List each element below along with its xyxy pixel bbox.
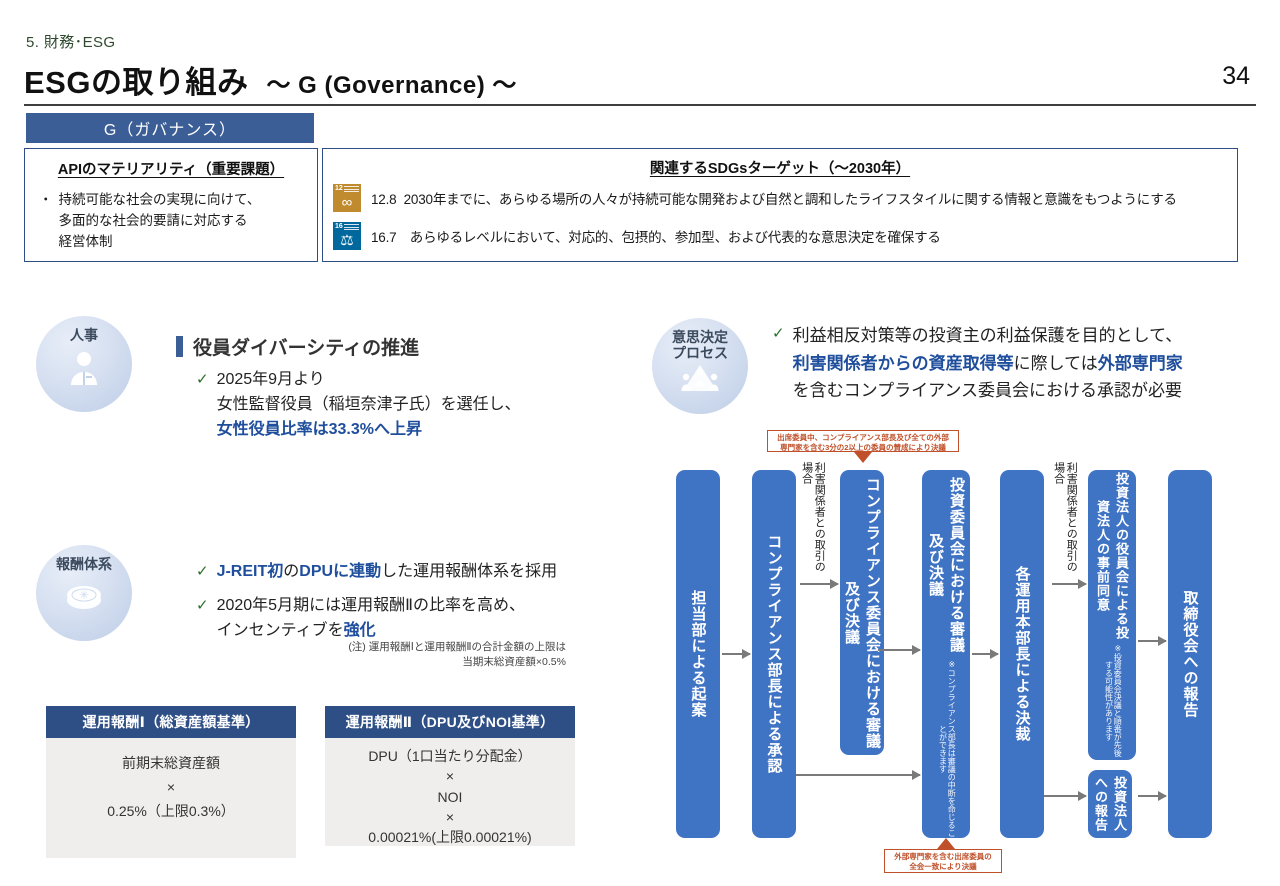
flow-box-reit-board-consent-note: ※投資委員会決議と順番が先後する可能性があります: [1104, 642, 1122, 760]
comp-b1-c: DPUに連動: [299, 563, 381, 580]
fee-table-1-line-1: 前期末総資産額: [46, 752, 296, 776]
flow-box-reit-board-consent[interactable]: 投資法人の役員会による投資法人の事前同意 ※投資委員会決議と順番が先後する可能性…: [1088, 470, 1136, 760]
flow-box-investment-committee[interactable]: 投資委員会における審議及び決議 ※コンプライアンス部長は審議の中断を命じることが…: [922, 470, 970, 838]
page-number: 34: [1222, 62, 1250, 91]
materiality-bullet: ・ 持続可能な社会の実現に向けて、 多面的な社会的要請に対応する 経営体制: [39, 190, 317, 253]
flow-vlabel-related-party-1: 利害関係者との取引の場合: [800, 462, 825, 582]
compensation-note-line-1: (注) 運用報酬Ⅰと運用報酬Ⅱの合計金額の上限は: [348, 641, 566, 653]
materiality-line-2: 多面的な社会的要請に対応する: [59, 213, 248, 228]
flow-box-investment-committee-label: 投資委員会における審議及び決議: [925, 470, 967, 660]
comp-b1-b: の: [283, 563, 299, 580]
materiality-line-3: 経営体制: [59, 234, 113, 249]
flow-arrow-7: [1138, 795, 1166, 797]
flow-arrow-bypass-2: [1050, 795, 1086, 797]
fee-table-2-line-5: 0.00021%(上限0.00021%): [325, 827, 575, 847]
sdg-row: 12 ∞ 12.8 2030年までに、あらゆる場所の人々が持続可能な開発および自…: [333, 184, 1237, 212]
sdg-targets-box: 関連するSDGsターゲット（～2030年） 12 ∞ 12.8 2030年までに…: [322, 148, 1238, 262]
svg-text:✳: ✳: [79, 588, 89, 602]
flow-callout-bottom-pointer: [937, 838, 955, 849]
flow-callout-top-line-1: 出席委員中、コンプライアンス部長及び全ての外部: [777, 433, 949, 442]
coin-icon: ✳: [62, 576, 106, 619]
fee-table-1: 運用報酬Ⅰ（総資産額基準） 前期末総資産額 × 0.25%（上限0.3%）: [46, 706, 296, 858]
page-title-sub: ～ G (Governance) ～: [266, 72, 516, 99]
decision-bullet: ✓ 利益相反対策等の投資主の利益保護を目的として、 利害関係者からの資産取得等に…: [772, 322, 1183, 405]
bullet-dot: ・: [39, 190, 53, 253]
page-title-main: ESGの取り組み: [24, 65, 248, 100]
section-kicker: 5. 財務･ESG: [26, 31, 115, 52]
sdg-row: 16 ⚖ 16.7 あらゆるレベルにおいて、対応的、包摂的、参加型、および代表的…: [333, 222, 1237, 250]
decision-line-3: を含むコンプライアンス委員会における承認が必要: [793, 381, 1182, 400]
fee-table-1-line-2: ×: [46, 776, 296, 800]
flow-arrow-6: [1138, 640, 1166, 642]
flow-arrow-4: [972, 653, 998, 655]
hr-badge-label: 人事: [70, 327, 98, 343]
sdg-heading: 関連するSDGsターゲット（～2030年）: [323, 149, 1237, 178]
fee-table-2-line-4: ×: [325, 807, 575, 827]
compensation-note: (注) 運用報酬Ⅰと運用報酬Ⅱの合計金額の上限は 当期末総資産額×0.5%: [300, 640, 566, 670]
flow-box-division-head-decision-label: 各運用本部長による決裁: [1012, 566, 1033, 742]
decision-line-2-b: に際しては: [1014, 354, 1098, 373]
section-banner: G（ガバナンス）: [26, 113, 314, 143]
materiality-text: 持続可能な社会の実現に向けて、 多面的な社会的要請に対応する 経営体制: [59, 190, 261, 253]
fee-table-2: 運用報酬Ⅱ（DPU及びNOI基準） DPU（1口当たり分配金） × NOI × …: [325, 706, 575, 846]
comp-b2-a: 2020年5月期には運用報酬Ⅱの比率を高め、: [217, 597, 525, 614]
compensation-note-line-2: 当期末総資産額×0.5%: [462, 656, 566, 668]
decision-badge-label: 意思決定 プロセス: [672, 329, 728, 361]
fee-table-2-header: 運用報酬Ⅱ（DPU及びNOI基準）: [325, 706, 575, 738]
flow-box-report-to-board[interactable]: 取締役会への報告: [1168, 470, 1212, 838]
sdg-goal-12-icon: 12 ∞: [333, 184, 361, 212]
flow-box-report-to-reit[interactable]: 投資法人への報告: [1088, 770, 1132, 838]
fee-table-1-body: 前期末総資産額 × 0.25%（上限0.3%）: [46, 738, 296, 858]
flow-box-compliance-committee[interactable]: コンプライアンス委員会における審議及び決議: [840, 470, 884, 755]
materiality-box: APIのマテリアリティ（重要課題） ・ 持続可能な社会の実現に向けて、 多面的な…: [24, 148, 318, 262]
hr-bullet-body: 2025年9月より 女性監督役員（稲垣奈津子氏）を選任し、 女性役員比率は33.…: [217, 368, 521, 442]
flow-callout-bottom: 外部専門家を含む出席委員の 全会一致により決議: [884, 849, 1002, 873]
flow-arrow-3: [878, 649, 920, 651]
headline-accent-bar: [176, 336, 183, 357]
hr-line-2: 女性監督役員（稲垣奈津子氏）を選任し、: [217, 396, 521, 413]
sdg-target-16-text: 16.7 あらゆるレベルにおいて、対応的、包摂的、参加型、および代表的な意思決定…: [371, 226, 941, 246]
flow-box-compliance-head-approval[interactable]: コンプライアンス部長による承認: [752, 470, 796, 838]
flow-box-compliance-head-approval-label: コンプライアンス部長による承認: [764, 534, 785, 774]
compensation-badge: 報酬体系 ✳: [36, 545, 132, 641]
flow-arrow-5: [1052, 583, 1086, 585]
compensation-bullet-2: ✓ 2020年5月期には運用報酬Ⅱの比率を高め、 インセンティブを強化: [196, 594, 525, 644]
sdg-goal-16-glyph: ⚖: [333, 233, 361, 248]
materiality-heading: APIのマテリアリティ（重要課題）: [25, 149, 317, 179]
flow-callout-top-line-2: 専門家を含む3分の2以上の委員の賛成により決議: [780, 443, 946, 452]
sdg-goal-16-number: 16: [335, 223, 343, 230]
sdg-goal-12-number: 12: [335, 185, 343, 192]
compensation-bullet-1-text: J-REIT初のDPUに連動した運用報酬体系を採用: [217, 560, 558, 585]
comp-b1-d: した運用報酬体系を採用: [381, 563, 557, 580]
hr-badge: 人事: [36, 316, 132, 412]
flow-arrow-1: [722, 653, 750, 655]
comp-b2-b: インセンティブを: [217, 622, 344, 639]
fee-table-1-header: 運用報酬Ⅰ（総資産額基準）: [46, 706, 296, 738]
flow-callout-top: 出席委員中、コンプライアンス部長及び全ての外部 専門家を含む3分の2以上の委員の…: [767, 430, 959, 452]
sdg-target-12-number: 12.8: [371, 192, 396, 207]
flow-box-compliance-committee-label: コンプライアンス委員会における審議及び決議: [841, 470, 883, 755]
fee-table-2-body: DPU（1口当たり分配金） × NOI × 0.00021%(上限0.00021…: [325, 738, 575, 846]
flow-arrow-2: [800, 583, 838, 585]
check-icon: ✓: [196, 560, 209, 585]
check-icon: ✓: [772, 322, 785, 405]
decision-badge-label-1: 意思決定: [672, 329, 728, 345]
committee-people-icon: [677, 363, 723, 398]
hr-bullet: ✓ 2025年9月より 女性監督役員（稲垣奈津子氏）を選任し、 女性役員比率は3…: [196, 368, 521, 442]
flow-box-origination-label: 担当部による起案: [688, 590, 709, 718]
decision-bullet-body: 利益相反対策等の投資主の利益保護を目的として、 利害関係者からの資産取得等に際し…: [793, 322, 1183, 405]
compensation-badge-label: 報酬体系: [56, 556, 112, 572]
header-divider: [24, 104, 1256, 106]
flow-box-division-head-decision[interactable]: 各運用本部長による決裁: [1000, 470, 1044, 838]
flow-box-origination[interactable]: 担当部による起案: [676, 470, 720, 838]
decision-line-2-c: 外部専門家: [1098, 354, 1183, 373]
flow-box-report-to-board-label: 取締役会への報告: [1180, 590, 1201, 718]
sdg-target-12-desc: 2030年までに、あらゆる場所の人々が持続可能な開発および自然と調和したライフス…: [404, 192, 1177, 207]
compensation-bullet-1: ✓ J-REIT初のDPUに連動した運用報酬体系を採用: [196, 560, 557, 585]
decision-line-1: 利益相反対策等の投資主の利益保護を目的として、: [793, 326, 1183, 345]
hr-line-3-highlight: 女性役員比率は33.3%へ上昇: [217, 421, 422, 438]
flow-arrow-bypass-1: [896, 774, 920, 776]
comp-b2-c: 強化: [344, 622, 376, 639]
decision-process-badge: 意思決定 プロセス: [652, 318, 748, 414]
sdg-goal-12-title-lines: [344, 186, 359, 194]
decision-line-2-a: 利害関係者からの資産取得等: [793, 354, 1014, 373]
hr-line-1: 2025年9月より: [217, 371, 325, 388]
flow-callout-bottom-line-2: 全会一致により決議: [909, 862, 976, 871]
check-icon: ✓: [196, 594, 209, 644]
slide-root: 5. 財務･ESG ESGの取り組み～ G (Governance) ～ 34 …: [0, 0, 1280, 886]
page-title: ESGの取り組み～ G (Governance) ～: [24, 57, 517, 102]
flow-box-reit-board-consent-label: 投資法人の役員会による投資法人の事前同意: [1093, 470, 1131, 642]
flow-vlabel-related-party-2: 利害関係者との取引の場合: [1052, 462, 1077, 582]
flow-box-investment-committee-note: ※コンプライアンス部長は審議の中断を命じることができます: [938, 660, 956, 838]
fee-table-2-line-3: NOI: [325, 787, 575, 807]
sdg-goal-16-icon: 16 ⚖: [333, 222, 361, 250]
hr-headline-text: 役員ダイバーシティの推進: [193, 333, 419, 360]
person-avatar-icon: [64, 347, 104, 392]
materiality-line-1: 持続可能な社会の実現に向けて、: [59, 192, 261, 207]
flow-callout-top-pointer: [854, 452, 872, 463]
flow-callout-bottom-line-1: 外部専門家を含む出席委員の: [894, 852, 992, 861]
sdg-target-12-text: 12.8 2030年までに、あらゆる場所の人々が持続可能な開発および自然と調和し…: [371, 188, 1177, 208]
hr-headline: 役員ダイバーシティの推進: [176, 333, 419, 360]
flow-box-report-to-reit-label: 投資法人への報告: [1091, 770, 1129, 838]
comp-b1-a: J-REIT初: [217, 563, 284, 580]
fee-table-1-line-3: 0.25%（上限0.3%）: [46, 800, 296, 824]
decision-badge-label-2: プロセス: [672, 345, 728, 361]
fee-table-2-line-2: ×: [325, 766, 575, 786]
compensation-bullet-2-text: 2020年5月期には運用報酬Ⅱの比率を高め、 インセンティブを強化: [217, 594, 525, 644]
sdg-goal-16-title-lines: [344, 224, 359, 232]
check-icon: ✓: [196, 368, 209, 442]
sdg-goal-12-glyph: ∞: [333, 195, 361, 210]
fee-table-2-line-1: DPU（1口当たり分配金）: [325, 746, 575, 766]
